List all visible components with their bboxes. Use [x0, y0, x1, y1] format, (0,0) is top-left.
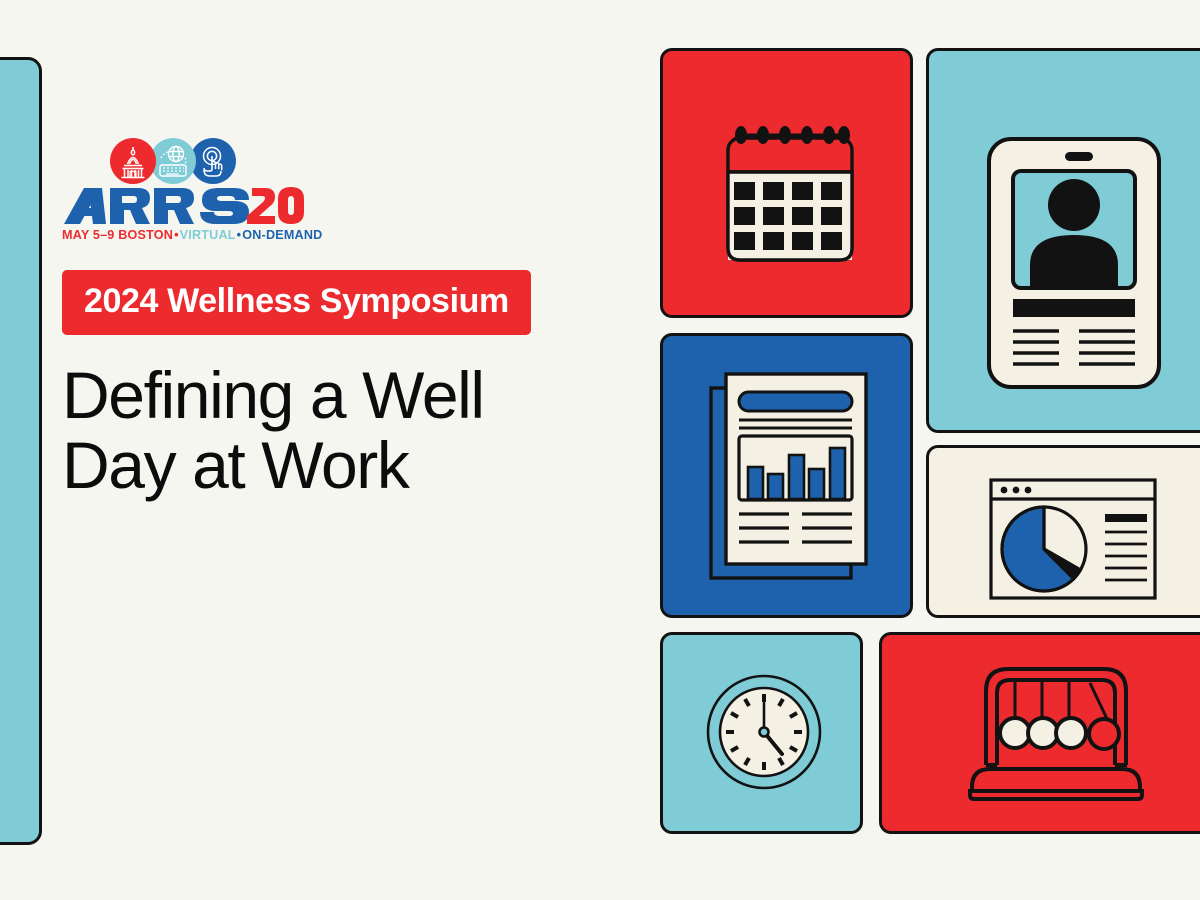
hand-touch-icon [190, 138, 236, 184]
arrs-logo: MAY 5–9 BOSTON•VIRTUAL•ON-DEMAND [62, 130, 308, 242]
decorative-strip [0, 57, 42, 845]
tagline-dates: MAY 5–9 BOSTON [62, 228, 173, 242]
symposium-badge: 2024 Wellness Symposium [62, 270, 531, 335]
tile-browser [926, 445, 1200, 618]
tile-phone [926, 48, 1200, 433]
tile-calendar [660, 48, 913, 318]
tagline-virtual: VIRTUAL [180, 228, 236, 242]
newtons-cradle-icon [882, 635, 1200, 834]
tile-clock [660, 632, 863, 834]
smartphone-profile-icon [929, 51, 1200, 433]
logo-tagline: MAY 5–9 BOSTON•VIRTUAL•ON-DEMAND [62, 228, 308, 242]
tagline-on-demand: ON-DEMAND [242, 228, 322, 242]
capitol-building-icon [110, 138, 156, 184]
tagline-separator-1: • [173, 228, 180, 242]
tile-cradle [879, 632, 1200, 834]
arrs-wordmark [62, 186, 308, 226]
browser-pie-chart-icon [929, 448, 1200, 618]
content-column: MAY 5–9 BOSTON•VIRTUAL•ON-DEMAND 2024 We… [62, 130, 602, 501]
clock-icon [663, 635, 863, 834]
document-bar-chart-icon [663, 336, 913, 618]
tile-report [660, 333, 913, 618]
globe-keyboard-icon [150, 138, 196, 184]
calendar-icon [663, 51, 913, 318]
logo-icon-row [110, 130, 308, 184]
page-title: Defining a Well Day at Work [62, 361, 602, 501]
